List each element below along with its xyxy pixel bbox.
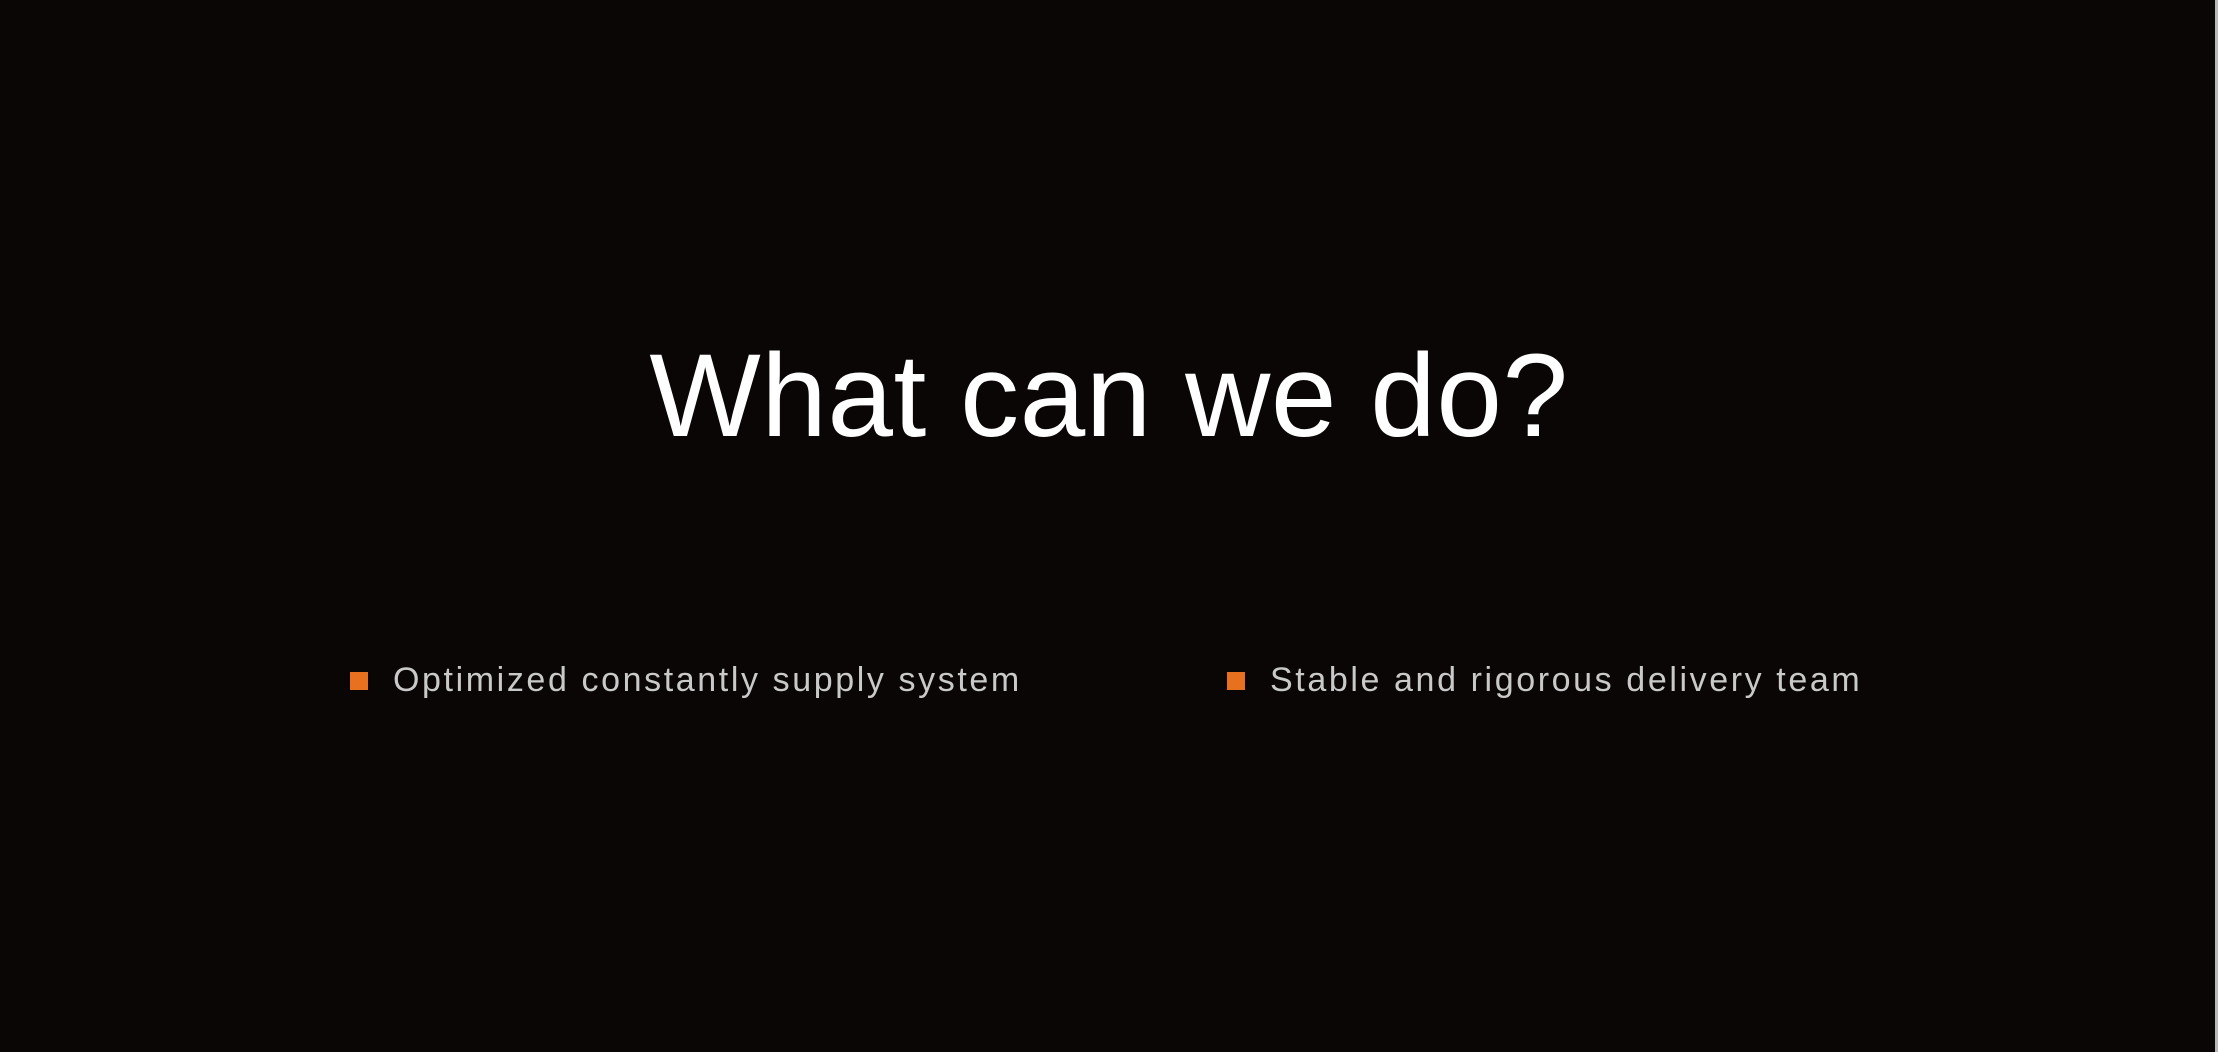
orange-square-bullet-icon [350, 672, 368, 690]
list-item-label: Stable and rigorous delivery team [1270, 660, 1862, 701]
list-item: Optimized constantly supply system [350, 660, 1227, 701]
page-title: What can we do? [649, 332, 1568, 462]
bullet-list: Optimized constantly supply system Stabl… [350, 660, 1862, 701]
list-item: Stable and rigorous delivery team [1227, 660, 1862, 701]
presentation-slide: What can we do? Optimized constantly sup… [0, 0, 2218, 1052]
list-item-label: Optimized constantly supply system [393, 660, 1022, 701]
slide-title-container: What can we do? [0, 332, 2218, 462]
orange-square-bullet-icon [1227, 672, 1245, 690]
